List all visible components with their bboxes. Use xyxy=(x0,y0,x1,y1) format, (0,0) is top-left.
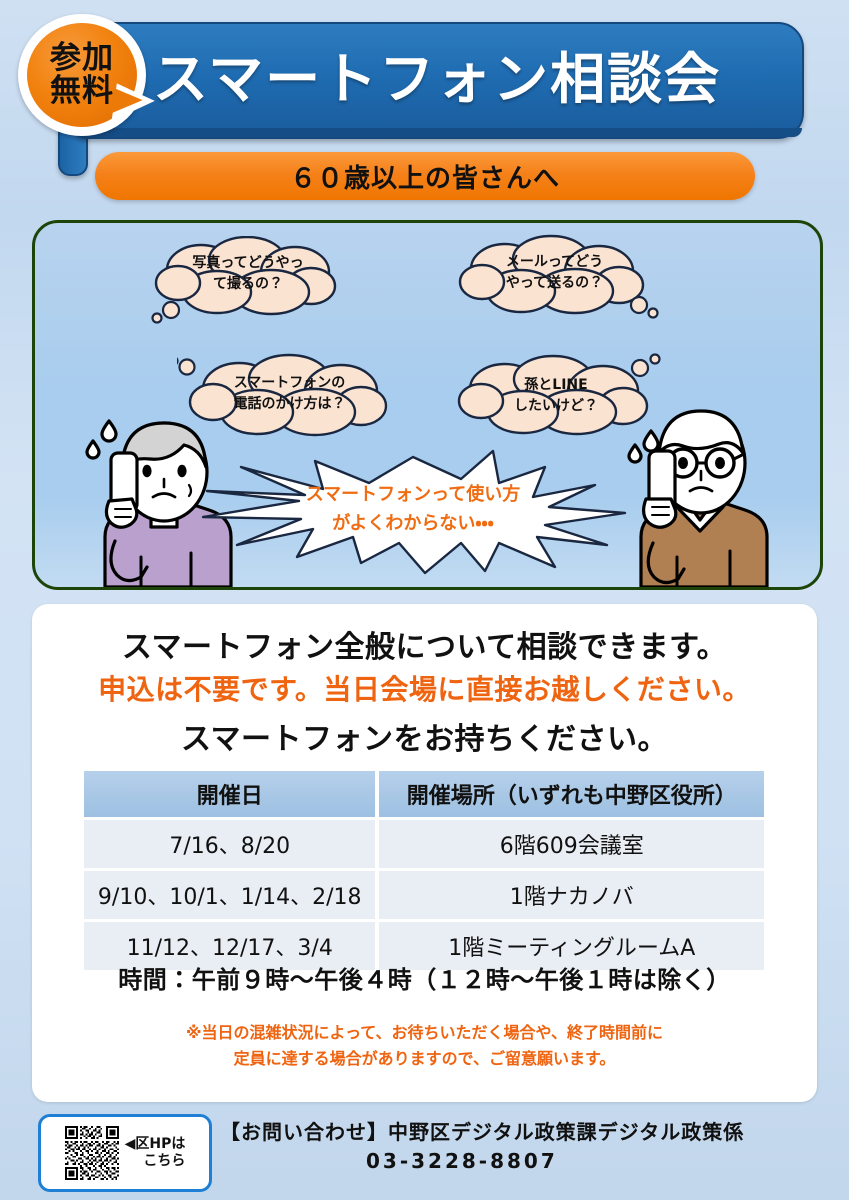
crowding-note-line1: ※当日の混雑状況によって、お待ちいただく場合や、終了時間前に xyxy=(32,1020,817,1046)
starburst-text: スマートフォンって使い方 がよくわからない・・・ xyxy=(193,445,633,575)
subtitle-text: ６０歳以上の皆さんへ xyxy=(290,158,560,195)
table-cell-venue: 1階ナカノバ xyxy=(379,871,764,919)
qr-code-box[interactable]: ◀区HPは こちら xyxy=(38,1114,212,1192)
badge-line-2: 無料 xyxy=(50,75,114,108)
schedule-table: 開催日 開催場所（いずれも中野区役所） 7/16、8/20 6階609会議室 9… xyxy=(84,768,764,973)
table-header-date: 開催日 xyxy=(84,771,379,817)
qr-code-icon xyxy=(65,1126,119,1180)
table-header-row: 開催日 開催場所（いずれも中野区役所） xyxy=(84,771,764,817)
page-title: スマートフォン相談会 xyxy=(74,22,800,126)
table-cell-date: 9/10、10/1、1/14、2/18 xyxy=(84,871,379,919)
subtitle-pill: ６０歳以上の皆さんへ xyxy=(95,152,755,200)
poster-root: スマートフォン相談会 参加 無料 ６０歳以上の皆さんへ xyxy=(0,0,849,1200)
qr-code-label-line2: こちら xyxy=(125,1153,186,1171)
starburst-line2: がよくわからない・・・ xyxy=(332,510,493,539)
crowding-note: ※当日の混雑状況によって、お待ちいただく場合や、終了時間前に 定員に達する場合が… xyxy=(32,1020,817,1073)
elderly-man-illustration xyxy=(613,395,788,587)
bubble-photo-shape xyxy=(143,236,353,324)
free-badge: 参加 無料 xyxy=(18,14,146,136)
qr-code-label-line1: ◀区HPは xyxy=(125,1136,186,1152)
event-time: 時間：午前９時～午後４時（１２時～午後１時は除く） xyxy=(32,960,817,995)
footer: ◀区HPは こちら 【お問い合わせ】中野区デジタル政策課デジタル政策係 03-3… xyxy=(32,1112,817,1190)
badge-line-1: 参加 xyxy=(50,42,114,75)
lead-line-3: スマートフォンをお持ちください。 xyxy=(32,714,817,758)
badge-tail-fill xyxy=(110,88,143,118)
table-row: 7/16、8/20 6階609会議室 xyxy=(84,820,764,868)
main-content-card: スマートフォン全般について相談できます。 申込は不要です。当日会場に直接お越しく… xyxy=(32,604,817,1102)
table-cell-venue: 6階609会議室 xyxy=(379,820,764,868)
lead-line-2: 申込は不要です。当日会場に直接お越しください。 xyxy=(32,668,817,708)
crowding-note-line2: 定員に達する場合がありますので、ご留意願います。 xyxy=(32,1046,817,1072)
bubble-mail-shape xyxy=(447,233,662,329)
contact-info: 【お問い合わせ】中野区デジタル政策課デジタル政策係 03-3228-8807 xyxy=(220,1118,820,1176)
title-banner: スマートフォン相談会 xyxy=(74,22,800,140)
table-header-venue: 開催場所（いずれも中野区役所） xyxy=(379,771,764,817)
bubble-mail: メールってどう やって送るの？ xyxy=(447,233,662,329)
contact-line-1: 【お問い合わせ】中野区デジタル政策課デジタル政策係 xyxy=(220,1118,820,1147)
bubble-photo: 写真ってどうやっ て撮るの？ xyxy=(143,236,353,324)
starburst-callout: スマートフォンって使い方 がよくわからない・・・ xyxy=(193,445,633,575)
table-cell-date: 7/16、8/20 xyxy=(84,820,379,868)
table-row: 9/10、10/1、1/14、2/18 1階ナカノバ xyxy=(84,871,764,919)
starburst-line1: スマートフォンって使い方 xyxy=(306,481,521,510)
contact-phone: 03-3228-8807 xyxy=(220,1147,820,1176)
qr-code-label: ◀区HPは こちら xyxy=(125,1136,186,1171)
lead-line-1: スマートフォン全般について相談できます。 xyxy=(32,622,817,666)
illustration-panel: 写真ってどうやっ て撮るの？ xyxy=(32,220,823,590)
